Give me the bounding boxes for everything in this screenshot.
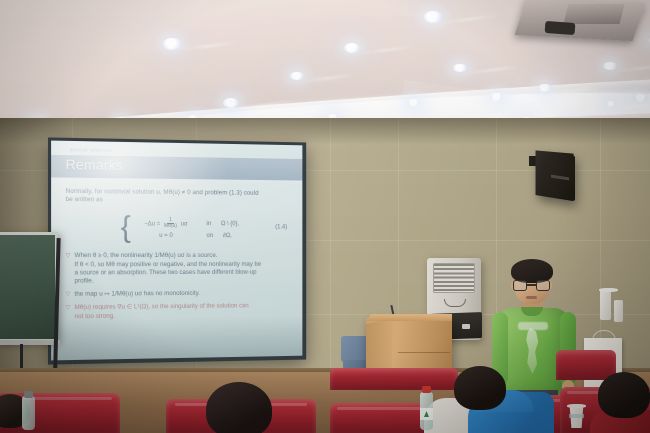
fraction-denominator: Mθ(u) xyxy=(162,224,179,230)
air-conditioner-logo xyxy=(462,324,470,329)
bullet-text: When θ ≥ 0, the nonlinearity 1/Mθ(u) uσ … xyxy=(74,252,261,285)
bullet-text: the map u ↦ 1/Mθ(u) uσ has no monotonici… xyxy=(74,290,199,299)
air-conditioner-grille xyxy=(433,263,475,293)
stacked-cups xyxy=(614,300,623,322)
equation-row-2-prep: on xyxy=(207,233,214,239)
slide-bullet: ▽When θ ≥ 0, the nonlinearity 1/Mθ(u) uσ… xyxy=(66,252,291,286)
slide-equation: { −Δu = 1 Mθ(u) uσ in xyxy=(66,211,291,246)
slide-bullet-list: ▽When θ ≥ 0, the nonlinearity 1/Mθ(u) uσ… xyxy=(66,252,291,321)
bullet-marker-icon: ▽ xyxy=(66,252,71,260)
slide-title: Remarks xyxy=(66,157,123,173)
presenter-mouth xyxy=(526,296,537,299)
glasses-lens-left xyxy=(513,280,527,291)
projected-slide: Journal reference Remarks Normally, for … xyxy=(51,141,302,361)
equation-row-1-prep: in xyxy=(207,221,212,227)
projector-lens-icon xyxy=(545,21,576,35)
equation-row-2-lhs: u = 0 xyxy=(135,233,197,239)
bottle-label xyxy=(420,408,433,420)
cup-rim xyxy=(599,288,618,292)
bullet-marker-icon: ▽ xyxy=(66,304,71,312)
audience-member xyxy=(594,372,650,433)
glasses-icon xyxy=(513,280,551,291)
cup-band xyxy=(569,414,584,418)
downlight-icon xyxy=(344,43,360,53)
equation-brace: { xyxy=(121,213,131,243)
audience-member xyxy=(196,382,284,433)
glasses-bridge xyxy=(527,284,536,286)
audience-head xyxy=(598,372,650,418)
downlight-icon xyxy=(223,98,239,108)
projection-screen: Journal reference Remarks Normally, for … xyxy=(48,137,306,364)
projector-body xyxy=(564,4,625,24)
equation-number: (1.4) xyxy=(275,225,287,231)
equation-fraction: 1 Mθ(u) xyxy=(162,218,179,230)
equation-row-1: −Δu = 1 Mθ(u) uσ in Ω \ {0}, xyxy=(135,218,239,230)
equation-row-1-lhs: −Δu = 1 Mθ(u) uσ xyxy=(135,218,197,230)
bottle-cap xyxy=(24,391,33,398)
downlight-icon xyxy=(408,99,420,106)
lectern-top xyxy=(366,314,452,321)
equation-row-1-domain: Ω \ {0}, xyxy=(221,221,239,227)
glasses-lens-right xyxy=(536,280,550,291)
slide-header-note: Journal reference xyxy=(70,147,113,153)
downlight-icon xyxy=(606,101,616,107)
lecture-hall-photo: Journal reference Remarks Normally, for … xyxy=(0,0,650,433)
equation-row-2: u = 0 on ∂Ω, xyxy=(135,233,239,239)
equation-row-1-power: uσ xyxy=(181,221,188,227)
presenter-shirt-print xyxy=(518,322,548,330)
bottle-cap xyxy=(422,386,431,393)
chalkboard-tray xyxy=(0,340,60,345)
audience-head xyxy=(206,382,272,433)
equation-rows: −Δu = 1 Mθ(u) uσ in Ω \ {0}, u xyxy=(135,218,239,239)
equation-row-2-domain: ∂Ω, xyxy=(223,233,232,239)
water-bottle xyxy=(22,396,35,430)
lectern-panel-line xyxy=(398,352,450,353)
cup-rim xyxy=(567,404,586,408)
screen-bottom-shadow xyxy=(51,317,302,361)
audience-member xyxy=(424,368,564,433)
audience-head xyxy=(454,366,506,410)
stacked-cups xyxy=(600,290,611,320)
chalkboard xyxy=(0,232,58,342)
equation-row-1-operator: −Δu = xyxy=(144,221,160,227)
slide-bullet: ▽the map u ↦ 1/Mθ(u) uσ has no monotonic… xyxy=(66,289,291,299)
bullet-marker-icon: ▽ xyxy=(66,291,71,299)
